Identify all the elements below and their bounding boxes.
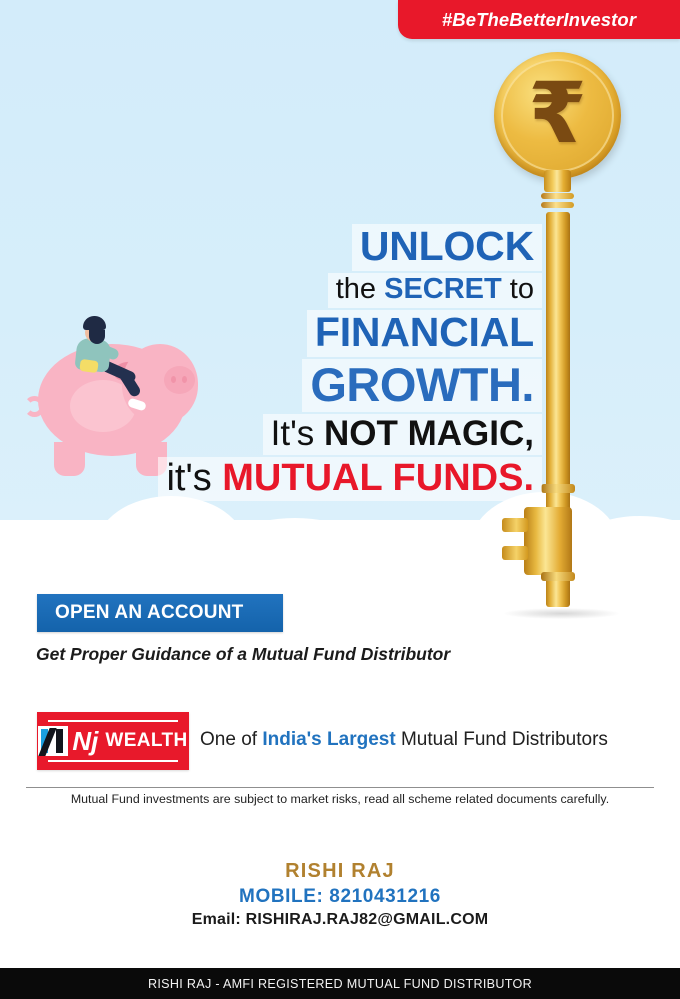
key-bit bbox=[524, 507, 572, 575]
headline-funds-pre: it's bbox=[166, 457, 222, 499]
olx-watermark-icon: INDIA bbox=[516, 893, 656, 959]
olx-india-label: INDIA bbox=[606, 947, 645, 957]
nj-logo-wealth: WEALTH bbox=[105, 730, 187, 752]
headline-financial: FINANCIAL bbox=[307, 310, 542, 357]
headline-line-3: FINANCIAL bbox=[122, 310, 542, 357]
poster-canvas: #BeTheBetterInvestor ₹ bbox=[0, 0, 680, 999]
olx-o-glyph bbox=[516, 897, 568, 949]
hashtag-banner: #BeTheBetterInvestor bbox=[398, 0, 680, 39]
coin-face: ₹ bbox=[501, 59, 614, 172]
cta-subtitle: Get Proper Guidance of a Mutual Fund Dis… bbox=[36, 644, 596, 665]
headline-block: UNLOCK the SECRET to FINANCIAL GROWTH. I… bbox=[122, 224, 542, 503]
headline-growth: GROWTH. bbox=[302, 359, 542, 412]
olx-x-glyph bbox=[602, 901, 654, 947]
tagline-pre: One of bbox=[200, 729, 262, 750]
headline-line-6: it's MUTUAL FUNDS. bbox=[122, 457, 542, 501]
brand-tagline: One of India's Largest Mutual Fund Distr… bbox=[200, 729, 670, 751]
headline-secret: the SECRET to bbox=[328, 273, 542, 308]
headline-secret-post: to bbox=[502, 273, 534, 305]
headline-funds-bold: MUTUAL FUNDS. bbox=[222, 457, 534, 499]
key-ring bbox=[541, 193, 574, 199]
headline-line-5: It's NOT MAGIC, bbox=[122, 414, 542, 455]
headline-funds: it's MUTUAL FUNDS. bbox=[158, 457, 542, 501]
hashtag-label: #BeTheBetterInvestor bbox=[442, 9, 636, 31]
coin-icon: ₹ bbox=[494, 52, 621, 179]
headline-magic: It's NOT MAGIC, bbox=[263, 414, 542, 455]
headline-magic-pre: It's bbox=[271, 414, 324, 453]
logo-wordmark: Nj WEALTH bbox=[38, 726, 187, 756]
disclaimer-text: Mutual Fund investments are subject to m… bbox=[26, 792, 654, 806]
headline-secret-pre: the bbox=[336, 273, 384, 305]
headline-line-2: the SECRET to bbox=[122, 273, 542, 308]
nj-monogram-icon bbox=[38, 726, 68, 756]
key-tooth bbox=[502, 518, 528, 532]
headline-unlock: UNLOCK bbox=[352, 224, 542, 271]
nj-logo-j: Nj bbox=[72, 728, 98, 754]
nj-wealth-logo: Nj WEALTH bbox=[37, 712, 189, 770]
key-ring bbox=[541, 202, 574, 208]
open-an-account-button[interactable]: OPEN AN ACCOUNT bbox=[37, 594, 283, 632]
key-neck bbox=[544, 170, 571, 192]
open-an-account-label: OPEN AN ACCOUNT bbox=[55, 602, 243, 624]
rupee-icon: ₹ bbox=[528, 71, 586, 155]
headline-secret-accent: SECRET bbox=[384, 273, 502, 305]
olx-l-glyph bbox=[578, 893, 597, 955]
footer-label: RISHI RAJ - AMFI REGISTERED MUTUAL FUND … bbox=[148, 977, 532, 991]
logo-rule bbox=[48, 720, 178, 722]
tagline-accent: India's Largest bbox=[262, 729, 395, 750]
footer-bar: RISHI RAJ - AMFI REGISTERED MUTUAL FUND … bbox=[0, 968, 680, 999]
logo-rule bbox=[48, 760, 178, 762]
key-collar bbox=[541, 572, 575, 581]
investor-accent bbox=[79, 359, 98, 373]
nj-stroke bbox=[56, 729, 63, 753]
key-tooth bbox=[502, 546, 528, 560]
headline-line-4: GROWTH. bbox=[122, 359, 542, 412]
headline-magic-bold: NOT MAGIC, bbox=[324, 414, 534, 453]
tagline-post: Mutual Fund Distributors bbox=[396, 729, 608, 750]
investor-hair bbox=[83, 316, 106, 330]
watermark-rishi-raj: RISHI RAJ bbox=[300, 570, 398, 590]
key-shadow bbox=[504, 608, 619, 619]
contact-name: RISHI RAJ bbox=[0, 860, 680, 883]
disclaimer-divider bbox=[26, 787, 654, 788]
headline-line-1: UNLOCK bbox=[122, 224, 542, 271]
key-collar bbox=[541, 484, 575, 493]
